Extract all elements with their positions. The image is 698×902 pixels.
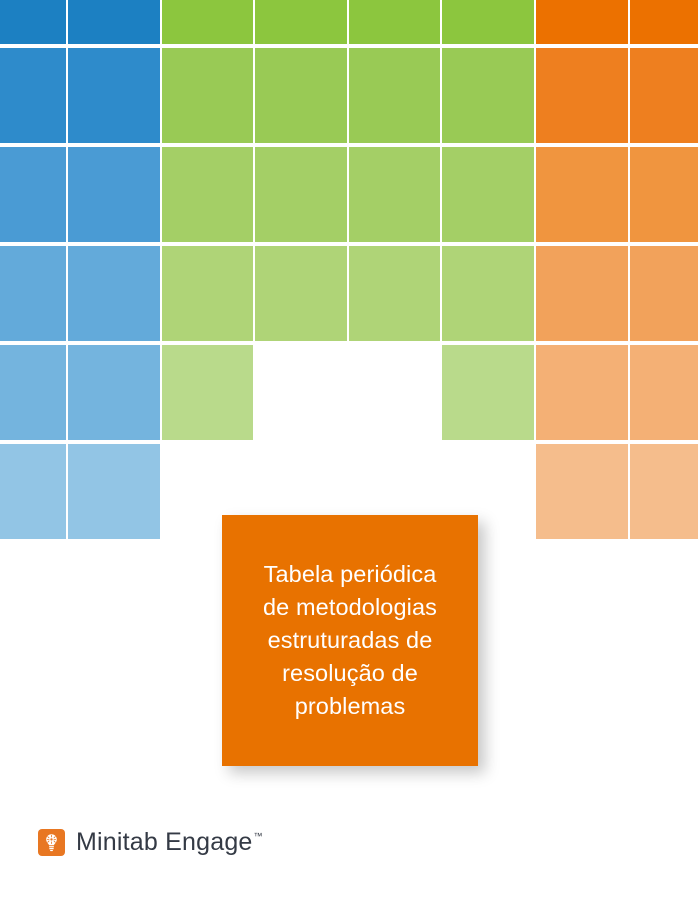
grid-tile-r2-c6 (442, 48, 534, 143)
page-title: Tabela periódica de metodologias estrutu… (243, 558, 458, 723)
grid-tile-r1-c1 (0, 0, 66, 44)
grid-tile-r2-c7 (536, 48, 628, 143)
grid-tile-r5-c7 (536, 345, 628, 440)
trademark-symbol: ™ (254, 830, 263, 842)
grid-tile-r5-c6 (442, 345, 534, 440)
grid-tile-r5-c3 (162, 345, 253, 440)
grid-tile-r2-c8 (630, 48, 698, 143)
grid-tile-r1-c5 (349, 0, 440, 44)
grid-tile-r3-c3 (162, 147, 253, 242)
grid-tile-r4-c7 (536, 246, 628, 341)
periodic-table-tile-grid (0, 0, 698, 540)
grid-tile-r3-c4 (255, 147, 347, 242)
grid-tile-r4-c5 (349, 246, 440, 341)
brand-name: Minitab Engage (76, 829, 253, 856)
grid-tile-r1-c7 (536, 0, 628, 44)
grid-tile-r3-c1 (0, 147, 66, 242)
grid-tile-r2-c4 (255, 48, 347, 143)
grid-tile-r3-c6 (442, 147, 534, 242)
grid-tile-r4-c1 (0, 246, 66, 341)
grid-tile-r3-c8 (630, 147, 698, 242)
grid-tile-r1-c2 (68, 0, 160, 44)
grid-tile-r3-c7 (536, 147, 628, 242)
grid-tile-r6-c7 (536, 444, 628, 539)
grid-tile-r3-c2 (68, 147, 160, 242)
minitab-engage-logo: Minitab Engage ™ (38, 829, 263, 856)
grid-tile-r2-c1 (0, 48, 66, 143)
grid-tile-r1-c8 (630, 0, 698, 44)
brand-name-wrapper: Minitab Engage ™ (76, 829, 263, 856)
grid-tile-r4-c4 (255, 246, 347, 341)
grid-tile-r4-c6 (442, 246, 534, 341)
grid-tile-r6-c1 (0, 444, 66, 539)
grid-tile-r6-c2 (68, 444, 160, 539)
grid-tile-r5-c2 (68, 345, 160, 440)
grid-tile-r5-c1 (0, 345, 66, 440)
grid-tile-r1-c3 (162, 0, 253, 44)
grid-tile-r2-c3 (162, 48, 253, 143)
cover-title-card: Tabela periódica de metodologias estrutu… (222, 515, 478, 766)
grid-tile-r1-c6 (442, 0, 534, 44)
lightbulb-icon (38, 829, 65, 856)
grid-tile-r1-c4 (255, 0, 347, 44)
grid-tile-r4-c8 (630, 246, 698, 341)
grid-tile-r2-c5 (349, 48, 440, 143)
grid-tile-r6-c8 (630, 444, 698, 539)
grid-tile-r3-c5 (349, 147, 440, 242)
grid-tile-r2-c2 (68, 48, 160, 143)
grid-tile-r5-c8 (630, 345, 698, 440)
grid-tile-r4-c2 (68, 246, 160, 341)
grid-tile-r4-c3 (162, 246, 253, 341)
